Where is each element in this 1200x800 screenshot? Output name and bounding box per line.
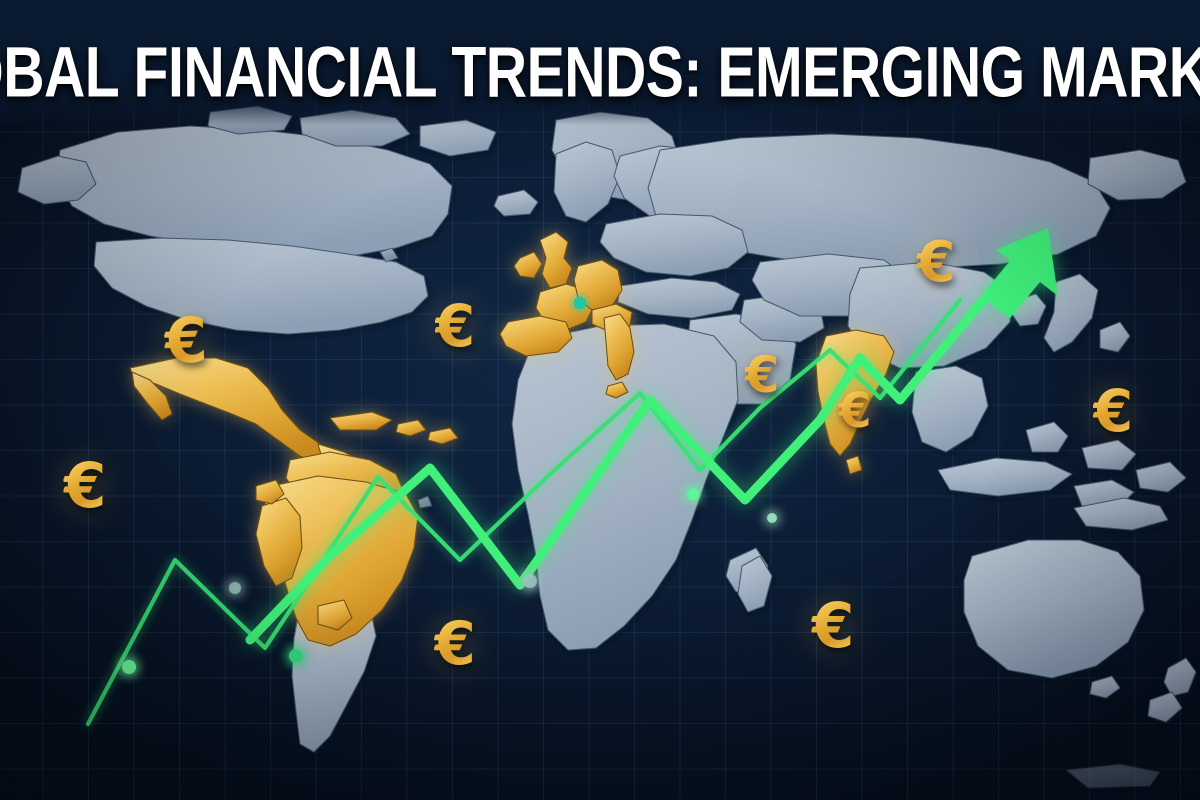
euro-north-america-icon: €: [163, 309, 208, 372]
page-title: GLOBAL FINANCIAL TRENDS: EMERGING MARKET…: [0, 44, 1200, 100]
map-marker-dots: [569, 292, 591, 314]
infographic-banner: €€€€€€€€€ GLOBAL FINANCIAL TRENDS: EMERG…: [0, 0, 1200, 800]
euro-india-icon: €: [838, 387, 871, 435]
euro-far-east-edge-icon: €: [1093, 382, 1133, 440]
page-title-text: GLOBAL FINANCIAL TRENDS: EMERGING MARKET…: [0, 36, 1200, 109]
euro-west-atlantic-icon: €: [63, 455, 106, 517]
euro-south-africa-icon: €: [811, 595, 854, 657]
euro-middle-east-icon: €: [745, 350, 780, 400]
euro-europe-west-icon: €: [435, 297, 475, 355]
euro-north-asia-icon: €: [917, 235, 956, 291]
map-land-neutral: [18, 106, 1196, 788]
euro-south-atlantic-icon: €: [434, 614, 476, 674]
